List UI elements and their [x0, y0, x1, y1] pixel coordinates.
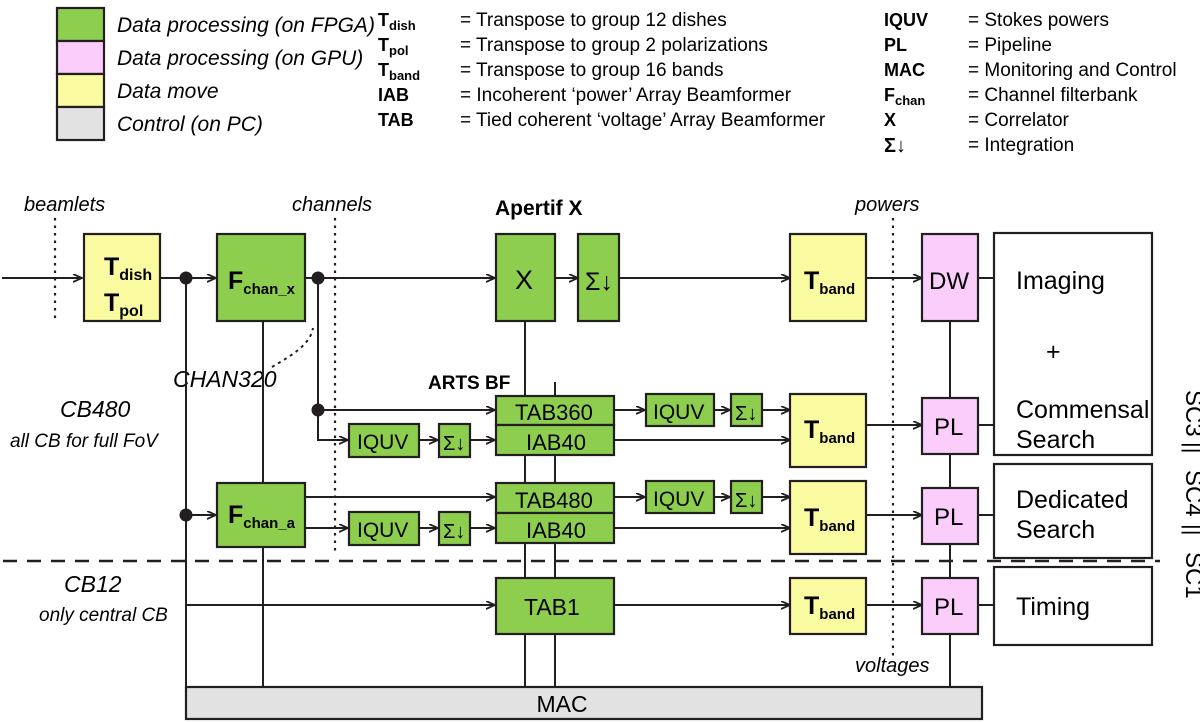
abbrev-mid-eq-4: = Tied coherent ‘voltage’ Array Beamform… [460, 110, 826, 131]
abbrev-mid-eq-1: = Transpose to group 2 polarizations [460, 35, 768, 56]
legend-label-1: Data processing (on GPU) [117, 47, 363, 70]
block-tab360-label: TAB360 [515, 400, 593, 425]
block-dw-label: DW [929, 268, 969, 295]
output-box-sc3[interactable]: Imaging + Commensal Search [994, 233, 1152, 455]
abbrev-right-eq-4: = Correlator [968, 110, 1070, 131]
block-fchan-a[interactable]: Fchan_a [217, 483, 305, 547]
block-iquv-r2-left-label: IQUV [357, 431, 408, 454]
block-fchan-x[interactable]: Fchan_x [217, 234, 305, 321]
block-pl2-label: PL [934, 504, 963, 531]
legend-label-3: Control (on PC) [117, 113, 263, 136]
abbrev-right-eq-2: = Monitoring and Control [968, 60, 1177, 81]
block-iab40-r2[interactable]: IAB40 [496, 425, 614, 455]
block-sigma-top-label: Σ↓ [585, 268, 613, 296]
abbrev-right-list: IQUV = Stokes powers PL = Pipeline MAC =… [884, 10, 1177, 157]
label-voltages: voltages [855, 655, 930, 677]
abbrev-right-sym-3: Fchan [884, 85, 925, 108]
sc3-label: SC3 [1180, 390, 1200, 437]
block-iab40-r3[interactable]: IAB40 [496, 513, 614, 543]
label-arts-bf: ARTS BF [428, 373, 510, 394]
abbrev-right-eq-1: = Pipeline [968, 35, 1052, 56]
chan320-pointer [272, 328, 313, 367]
abbrev-right-sym-5: Σ↓ [884, 135, 906, 157]
block-sigma-r2-left[interactable]: Σ↓ [439, 424, 470, 457]
block-sigma-r2-right[interactable]: Σ↓ [731, 394, 762, 426]
abbrev-mid-sym-0: Tdish [378, 10, 416, 33]
block-sigma-r3-left-label: Σ↓ [443, 521, 465, 543]
abbrev-right-sym-1: PL [884, 35, 907, 55]
block-sigma-r2-right-label: Σ↓ [735, 403, 757, 425]
block-iquv-r3-right[interactable]: IQUV [646, 481, 714, 513]
block-tband-1[interactable]: Tband [790, 234, 866, 321]
block-tab1[interactable]: TAB1 [496, 578, 614, 634]
sc-bar-2: || [1181, 524, 1200, 535]
abbrev-mid-sym-3: IAB [378, 85, 409, 105]
label-cb480-sub: all CB for full FoV [10, 431, 160, 452]
block-mac-label: MAC [536, 691, 587, 717]
abbrev-right-eq-5: = Integration [968, 135, 1074, 156]
block-pl3-label: PL [934, 594, 963, 621]
block-sigma-r2-left-label: Σ↓ [443, 433, 465, 455]
block-correlator-x[interactable]: X [496, 234, 555, 321]
block-pl-2[interactable]: PL [922, 488, 978, 544]
sc4-label: SC4 [1180, 470, 1200, 517]
output-box-sc1[interactable]: Timing [994, 567, 1152, 645]
legend: Data processing (on FPGA) Data processin… [57, 8, 375, 140]
block-mac[interactable]: MAC [186, 687, 982, 719]
abbrev-mid-eq-2: = Transpose to group 16 bands [460, 60, 724, 81]
block-pl-3[interactable]: PL [922, 578, 978, 634]
output-commensal-line2: Search [1016, 426, 1095, 454]
block-iab40-r2-label: IAB40 [526, 430, 586, 455]
block-iquv-r3-left-label: IQUV [357, 519, 408, 542]
block-sigma-r3-left[interactable]: Σ↓ [439, 512, 470, 545]
block-sigma-top[interactable]: Σ↓ [578, 234, 619, 321]
abbrev-right-sym-0: IQUV [884, 10, 928, 30]
abbrev-mid-list: Tdish = Transpose to group 12 dishes Tpo… [378, 10, 826, 131]
block-iquv-r2-right[interactable]: IQUV [646, 394, 714, 426]
block-iquv-r2-right-label: IQUV [653, 401, 704, 424]
output-imaging-label: Imaging [1016, 267, 1105, 295]
block-iab40-r3-label: IAB40 [526, 518, 586, 543]
label-chan320: CHAN320 [173, 366, 277, 392]
block-pl-1[interactable]: PL [922, 398, 978, 454]
label-cb480: CB480 [60, 396, 131, 422]
label-apertif-x: Apertif X [495, 197, 583, 220]
output-plus-label: + [1046, 338, 1061, 366]
abbrev-right-sym-2: MAC [884, 60, 925, 80]
sc-labels: SC3 || SC4 || SC1 [1180, 390, 1200, 599]
output-box-sc4[interactable]: Dedicated Search [994, 464, 1152, 558]
legend-swatch-2 [57, 74, 104, 107]
block-iquv-r3-left[interactable]: IQUV [349, 512, 419, 545]
abbrev-right-sym-4: X [884, 110, 896, 130]
output-dedicated-line1: Dedicated [1016, 486, 1129, 514]
block-tab1-label: TAB1 [524, 594, 580, 620]
block-x-label: X [515, 265, 533, 295]
abbrev-mid-sym-1: Tpol [378, 35, 409, 58]
output-timing-label: Timing [1016, 593, 1090, 621]
block-sigma-r3-right-label: Σ↓ [735, 490, 757, 512]
abbrev-mid-sym-2: Tband [378, 60, 420, 83]
abbrev-right-eq-0: = Stokes powers [968, 10, 1109, 31]
legend-label-2: Data move [117, 80, 219, 103]
diagram-root: Data processing (on FPGA) Data processin… [0, 0, 1200, 723]
abbrev-mid-eq-3: = Incoherent ‘power’ Array Beamformer [460, 85, 792, 106]
output-commensal-line1: Commensal [1016, 396, 1149, 424]
block-tab360[interactable]: TAB360 [496, 396, 614, 425]
label-channels: channels [292, 194, 372, 216]
abbrev-mid-eq-0: = Transpose to group 12 dishes [460, 10, 727, 31]
legend-swatch-3 [57, 107, 104, 140]
sc-bar-1: || [1181, 442, 1200, 453]
block-tdish-tpol[interactable]: Tdish Tpol [84, 234, 160, 321]
block-tband-3[interactable]: Tband [790, 481, 866, 554]
block-tband-4[interactable]: Tband [790, 578, 866, 634]
block-dw[interactable]: DW [922, 234, 978, 321]
block-tband-2[interactable]: Tband [790, 394, 866, 467]
block-tab480[interactable]: TAB480 [496, 483, 614, 513]
block-pl1-label: PL [934, 414, 963, 441]
block-sigma-r3-right[interactable]: Σ↓ [731, 481, 762, 513]
block-iquv-r3-right-label: IQUV [653, 488, 704, 511]
output-dedicated-line2: Search [1016, 516, 1095, 544]
block-iquv-r2-left[interactable]: IQUV [349, 424, 419, 457]
label-cb12-sub: only central CB [39, 605, 168, 626]
abbrev-right-eq-3: = Channel filterbank [968, 85, 1138, 106]
abbrev-mid-sym-4: TAB [378, 110, 414, 130]
label-beamlets: beamlets [24, 194, 105, 216]
label-powers: powers [854, 194, 919, 216]
legend-swatch-1 [57, 41, 104, 74]
legend-swatch-0 [57, 8, 104, 41]
sc1-label: SC1 [1180, 552, 1200, 599]
label-cb12: CB12 [64, 571, 122, 597]
block-tab480-label: TAB480 [515, 488, 593, 513]
legend-label-0: Data processing (on FPGA) [117, 14, 375, 37]
